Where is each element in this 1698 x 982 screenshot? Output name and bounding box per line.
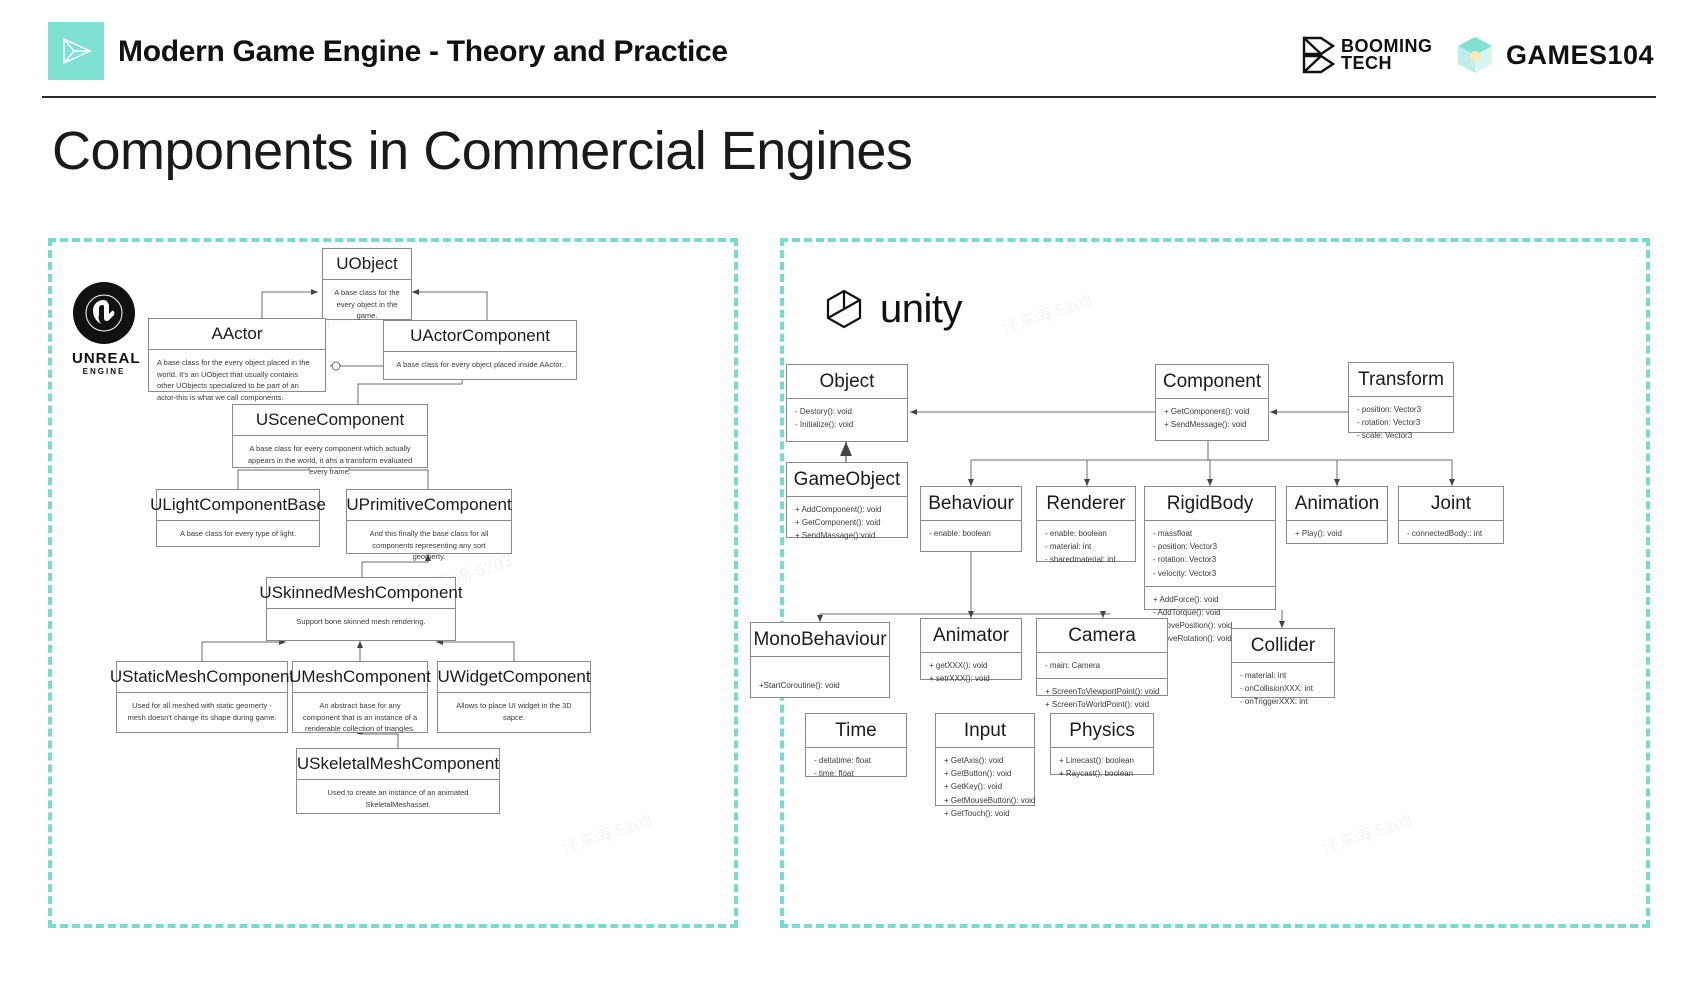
member: - position: Vector3 xyxy=(1153,540,1267,553)
uml-box-component[interactable]: Component + GetComponent(): void + SendM… xyxy=(1155,364,1269,441)
member: - enable: boolean xyxy=(929,527,1013,540)
box-members: + GetAxis(): void + GetButton(): void + … xyxy=(936,748,1034,826)
uml-box-uskinnedmeshcomponent[interactable]: USkinnedMeshComponent Support bone skinn… xyxy=(266,577,456,641)
box-title: Behaviour xyxy=(921,487,1021,521)
box-title: Input xyxy=(936,714,1034,748)
box-title: AActor xyxy=(149,319,325,350)
box-title: USkeletalMeshComponent xyxy=(297,749,499,780)
member: - position: Vector3 xyxy=(1357,403,1445,416)
uml-box-collider[interactable]: Collider - material: int - onCollisionXX… xyxy=(1231,628,1335,698)
uml-box-animator[interactable]: Animator + getXXX(): void + setrXXX(): v… xyxy=(920,618,1022,680)
booming-tech-logo: BOOMING TECH xyxy=(1301,36,1433,74)
box-body: An abstract base for any component that … xyxy=(293,693,427,742)
box-title: MonoBehaviour xyxy=(751,623,889,657)
member: + GetMouseButton(): void xyxy=(944,794,1026,807)
box-title: Transform xyxy=(1349,363,1453,397)
unreal-u-icon xyxy=(73,282,135,344)
uml-box-renderer[interactable]: Renderer - enable: boolean - material: i… xyxy=(1036,486,1136,562)
uml-box-object[interactable]: Object - Destory(): void - Initialize():… xyxy=(786,364,908,442)
member: + GetKey(): void xyxy=(944,780,1026,793)
box-body: And this finally the base class for all … xyxy=(347,521,511,570)
member: - rotation: Vector3 xyxy=(1357,416,1445,429)
unreal-label: UNREAL xyxy=(72,350,136,367)
member: - massfloat xyxy=(1153,527,1267,540)
uml-box-uobject[interactable]: UObject A base class for the every objec… xyxy=(322,248,412,320)
booming-play-logo xyxy=(48,22,104,80)
uml-box-joint[interactable]: Joint - connectedBody:: int xyxy=(1398,486,1504,544)
box-members: - connectedBody:: int xyxy=(1399,521,1503,546)
member: - time: float xyxy=(814,767,898,780)
box-title: USkinnedMeshComponent xyxy=(267,578,455,609)
box-members: + Play(): void xyxy=(1287,521,1387,546)
box-title: UWidgetComponent xyxy=(438,662,590,693)
member: + AddForce(): void xyxy=(1153,593,1267,606)
box-title: Collider xyxy=(1232,629,1334,663)
member: + ScreenToViewportPoint(): void xyxy=(1045,685,1159,698)
box-body: Support bone skinned mesh rendering. xyxy=(267,609,455,635)
uml-box-uprimitivecomponent[interactable]: UPrimitiveComponent And this finally the… xyxy=(346,489,512,554)
header-title: Modern Game Engine - Theory and Practice xyxy=(118,35,728,69)
member: - material: int xyxy=(1240,669,1326,682)
games104-label: GAMES104 xyxy=(1506,40,1654,71)
member: - scale: Vector3 xyxy=(1357,429,1445,442)
member: + ScreenToWorldPoint(): void xyxy=(1045,698,1159,711)
box-title: Renderer xyxy=(1037,487,1135,521)
box-title: GameObject xyxy=(787,463,907,497)
box-title: Time xyxy=(806,714,906,748)
page-title: Components in Commercial Engines xyxy=(52,120,912,182)
member: - Initialize(): void xyxy=(795,418,899,431)
play-triangle-icon xyxy=(56,31,96,71)
member: +StartCoroutine(): void xyxy=(759,679,881,692)
box-title: ULightComponentBase xyxy=(157,490,319,521)
unity-logo: unity xyxy=(820,285,962,333)
box-title: Component xyxy=(1156,365,1268,399)
uml-box-gameobject[interactable]: GameObject + AddComponent(): void + GetC… xyxy=(786,462,908,538)
uml-box-ulightcomponentbase[interactable]: ULightComponentBase A base class for eve… xyxy=(156,489,320,547)
member: - sharedmaterial: int xyxy=(1045,553,1127,566)
member: - connectedBody:: int xyxy=(1407,527,1495,540)
member: + setrXXX(): void xyxy=(929,672,1013,685)
uml-box-transform[interactable]: Transform - position: Vector3 - rotation… xyxy=(1348,362,1454,433)
member: + GetComponent(): void xyxy=(795,516,899,529)
uml-box-uactorcomponent[interactable]: UActorComponent A base class for every o… xyxy=(383,320,577,380)
unreal-engine-logo: UNREAL ENGINE xyxy=(72,282,136,376)
uml-box-ustaticmeshcomponent[interactable]: UStaticMeshComponent Used for all meshed… xyxy=(116,661,288,733)
box-members: - massfloat - position: Vector3 - rotati… xyxy=(1145,521,1275,586)
box-title: Animation xyxy=(1287,487,1387,521)
member: + GetTouch(): void xyxy=(944,807,1026,820)
uml-box-aactor[interactable]: AActor A base class for the every object… xyxy=(148,318,326,392)
header-divider xyxy=(42,96,1656,98)
box-members: - position: Vector3 - rotation: Vector3 … xyxy=(1349,397,1453,449)
box-body: A base class for every object placed ins… xyxy=(384,352,576,378)
page-header: Modern Game Engine - Theory and Practice… xyxy=(0,0,1698,100)
box-title: RigidBody xyxy=(1145,487,1275,521)
uml-box-uskeletalmeshcomponent[interactable]: USkeletalMeshComponent Used to create an… xyxy=(296,748,500,814)
uml-box-camera[interactable]: Camera - main: Camera + ScreenToViewport… xyxy=(1036,618,1168,696)
member: + GetButton(): void xyxy=(944,767,1026,780)
member: + Play(): void xyxy=(1295,527,1379,540)
games104-logo: GAMES104 xyxy=(1454,34,1654,76)
member: + GetComponent(): void xyxy=(1164,405,1260,418)
box-members: +StartCoroutine(): void xyxy=(751,657,889,698)
uml-box-uwidgetcomponent[interactable]: UWidgetComponent Allows to place UI widg… xyxy=(437,661,591,733)
box-title: Object xyxy=(787,365,907,399)
box-members: - enable: boolean - material: int - shar… xyxy=(1037,521,1135,573)
member: - main: Camera xyxy=(1045,659,1159,672)
unity-label: unity xyxy=(880,287,962,332)
uml-box-behaviour[interactable]: Behaviour - enable: boolean xyxy=(920,486,1022,552)
booming-label-line2: TECH xyxy=(1341,55,1433,72)
member: + SendMassage():void xyxy=(795,529,899,542)
box-body: Used to create an instance of an animate… xyxy=(297,780,499,817)
box-members: - Destory(): void - Initialize(): void xyxy=(787,399,907,437)
member: - AddTorque(): void xyxy=(1153,606,1267,619)
box-members: + GetComponent(): void + SendMessage(): … xyxy=(1156,399,1268,437)
uml-box-uscenecomponent[interactable]: USceneComponent A base class for every c… xyxy=(232,404,428,468)
box-title: UObject xyxy=(323,249,411,280)
member: - rotation: Vector3 xyxy=(1153,553,1267,566)
member: - material: int xyxy=(1045,540,1127,553)
uml-box-physics[interactable]: Physics + Linecast(): boolean + Raycast(… xyxy=(1050,713,1154,775)
uml-box-umeshcomponent[interactable]: UMeshComponent An abstract base for any … xyxy=(292,661,428,733)
box-title: UActorComponent xyxy=(384,321,576,352)
unreal-sublabel: ENGINE xyxy=(72,367,136,376)
games104-cube-icon xyxy=(1454,34,1496,76)
box-body: A base class for every component which a… xyxy=(233,436,427,485)
box-members: + getXXX(): void + setrXXX(): void xyxy=(921,653,1021,691)
member: + Raycast(): boolean xyxy=(1059,767,1145,780)
box-body: Used for all meshed with static geomerty… xyxy=(117,693,287,730)
box-methods: + ScreenToViewportPoint(): void + Screen… xyxy=(1037,678,1167,717)
member: - onCollisionXXX: int xyxy=(1240,682,1326,695)
box-title: UStaticMeshComponent xyxy=(117,662,287,693)
member: - Destory(): void xyxy=(795,405,899,418)
box-title: Camera xyxy=(1037,619,1167,653)
box-body: Allows to place UI widget in the 3D sapc… xyxy=(438,693,590,730)
box-title: UPrimitiveComponent xyxy=(347,490,511,521)
uml-box-animation[interactable]: Animation + Play(): void xyxy=(1286,486,1388,544)
box-members: - material: int - onCollisionXXX: int - … xyxy=(1232,663,1334,715)
box-members: - main: Camera xyxy=(1037,653,1167,678)
box-title: Physics xyxy=(1051,714,1153,748)
member: - deltatime: float xyxy=(814,754,898,767)
member: - enable: boolean xyxy=(1045,527,1127,540)
member: + AddComponent(): void xyxy=(795,503,899,516)
box-title: USceneComponent xyxy=(233,405,427,436)
member: + Linecast(): boolean xyxy=(1059,754,1145,767)
uml-box-time[interactable]: Time - deltatime: float - time: float xyxy=(805,713,907,777)
box-title: Joint xyxy=(1399,487,1503,521)
unity-cube-icon xyxy=(820,285,868,333)
member: + SendMessage(): void xyxy=(1164,418,1260,431)
box-members: - enable: boolean xyxy=(921,521,1021,546)
uml-box-rigidbody[interactable]: RigidBody - massfloat - position: Vector… xyxy=(1144,486,1276,610)
box-members: - deltatime: float - time: float xyxy=(806,748,906,786)
booming-b-icon xyxy=(1301,36,1335,74)
box-members: + AddComponent(): void + GetComponent():… xyxy=(787,497,907,549)
box-title: Animator xyxy=(921,619,1021,653)
member: - onTriggerXXX: int xyxy=(1240,695,1326,708)
box-title: UMeshComponent xyxy=(293,662,427,693)
box-body: A base class for the every object placed… xyxy=(149,350,325,411)
box-members: + Linecast(): boolean + Raycast(): boole… xyxy=(1051,748,1153,786)
uml-box-input[interactable]: Input + GetAxis(): void + GetButton(): v… xyxy=(935,713,1035,806)
member: + GetAxis(): void xyxy=(944,754,1026,767)
uml-box-monobehaviour[interactable]: MonoBehaviour +StartCoroutine(): void xyxy=(750,622,890,698)
box-body: A base class for every type of light. xyxy=(157,521,319,547)
member: - velocity: Vector3 xyxy=(1153,567,1267,580)
member: + getXXX(): void xyxy=(929,659,1013,672)
